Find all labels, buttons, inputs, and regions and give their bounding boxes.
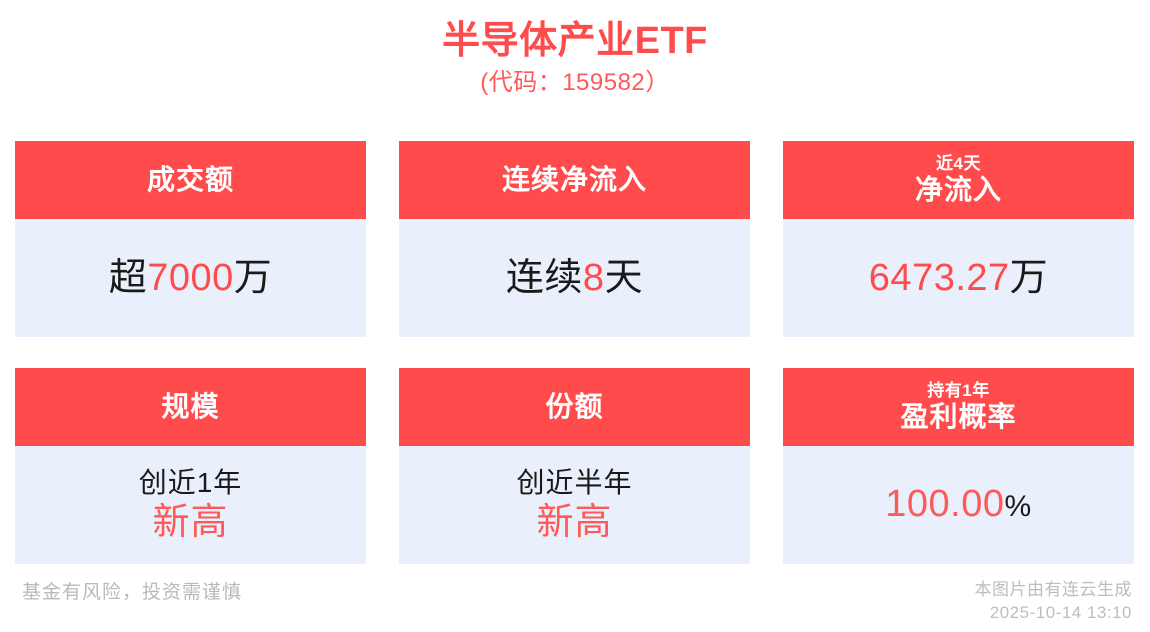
value-prefix: 连续: [506, 257, 583, 299]
generation-credit: 本图片由有连云生成 2025-10-14 13:10: [975, 578, 1133, 624]
card-body-scale: 创近1年 新高: [15, 446, 366, 564]
card-header-title: 净流入: [915, 174, 1002, 206]
metric-value: 6473.27万: [869, 255, 1048, 301]
risk-disclaimer: 基金有风险，投资需谨慎: [22, 578, 242, 608]
value-unit: %: [1005, 490, 1032, 523]
fund-code-subtitle: (代码：159582）: [0, 66, 1150, 100]
card-body-net-inflow-4d: 6473.27万: [783, 219, 1134, 337]
metric-card-turnover: 成交额 超7000万: [15, 141, 366, 337]
metric-value: 超7000万: [109, 255, 273, 301]
card-header-net-inflow-4d: 近4天 净流入: [783, 141, 1134, 219]
value-suffix: 万: [1010, 257, 1049, 299]
metric-card-profit-probability: 持有1年 盈利概率 100.00%: [783, 368, 1134, 564]
card-body-turnover: 超7000万: [15, 219, 366, 337]
page-footer: 基金有风险，投资需谨慎 本图片由有连云生成 2025-10-14 13:10: [0, 570, 1150, 632]
metric-value-top: 创近半年: [516, 466, 632, 500]
value-highlight: 7000: [147, 257, 234, 299]
metric-card-scale: 规模 创近1年 新高: [15, 368, 366, 564]
metric-value: 100.00%: [885, 481, 1031, 530]
value-highlight: 6473.27: [869, 257, 1010, 299]
value-suffix: 天: [605, 257, 644, 299]
card-header-shares: 份额: [399, 368, 750, 446]
metric-value-bottom: 新高: [537, 500, 613, 544]
metric-value-bottom: 新高: [153, 500, 229, 544]
metric-card-shares: 份额 创近半年 新高: [399, 368, 750, 564]
card-header-profit-probability: 持有1年 盈利概率: [783, 368, 1134, 446]
card-header-title: 规模: [161, 390, 219, 424]
card-header-subtitle: 近4天: [936, 154, 981, 174]
value-prefix: 超: [109, 257, 148, 299]
card-body-shares: 创近半年 新高: [399, 446, 750, 564]
metric-card-continuous-net-inflow: 连续净流入 连续8天: [399, 141, 750, 337]
page-title: 半导体产业ETF: [0, 18, 1150, 64]
value-number: 100.00: [885, 483, 1004, 525]
card-header-title: 成交额: [147, 163, 234, 197]
value-highlight: 8: [583, 257, 605, 299]
card-header-subtitle: 持有1年: [927, 381, 989, 401]
card-body-profit-probability: 100.00%: [783, 446, 1134, 564]
card-header-turnover: 成交额: [15, 141, 366, 219]
card-header-title: 盈利概率: [900, 401, 1016, 433]
metric-card-net-inflow-4d: 近4天 净流入 6473.27万: [783, 141, 1134, 337]
card-header-title: 份额: [545, 390, 603, 424]
metric-card-grid: 成交额 超7000万 连续净流入 连续8天 近4天 净流入 6473.27万: [15, 141, 1135, 564]
credit-source: 本图片由有连云生成: [975, 578, 1133, 601]
card-header-title: 连续净流入: [502, 163, 647, 197]
metric-value: 连续8天: [506, 255, 643, 301]
page-header: 半导体产业ETF (代码：159582）: [0, 0, 1150, 100]
value-suffix: 万: [234, 257, 273, 299]
card-header-continuous-net-inflow: 连续净流入: [399, 141, 750, 219]
etf-infographic: 半导体产业ETF (代码：159582） 成交额 超7000万 连续净流入 连续…: [0, 0, 1150, 632]
card-body-continuous-net-inflow: 连续8天: [399, 219, 750, 337]
credit-timestamp: 2025-10-14 13:10: [975, 601, 1133, 624]
metric-value-top: 创近1年: [139, 466, 243, 500]
card-header-scale: 规模: [15, 368, 366, 446]
